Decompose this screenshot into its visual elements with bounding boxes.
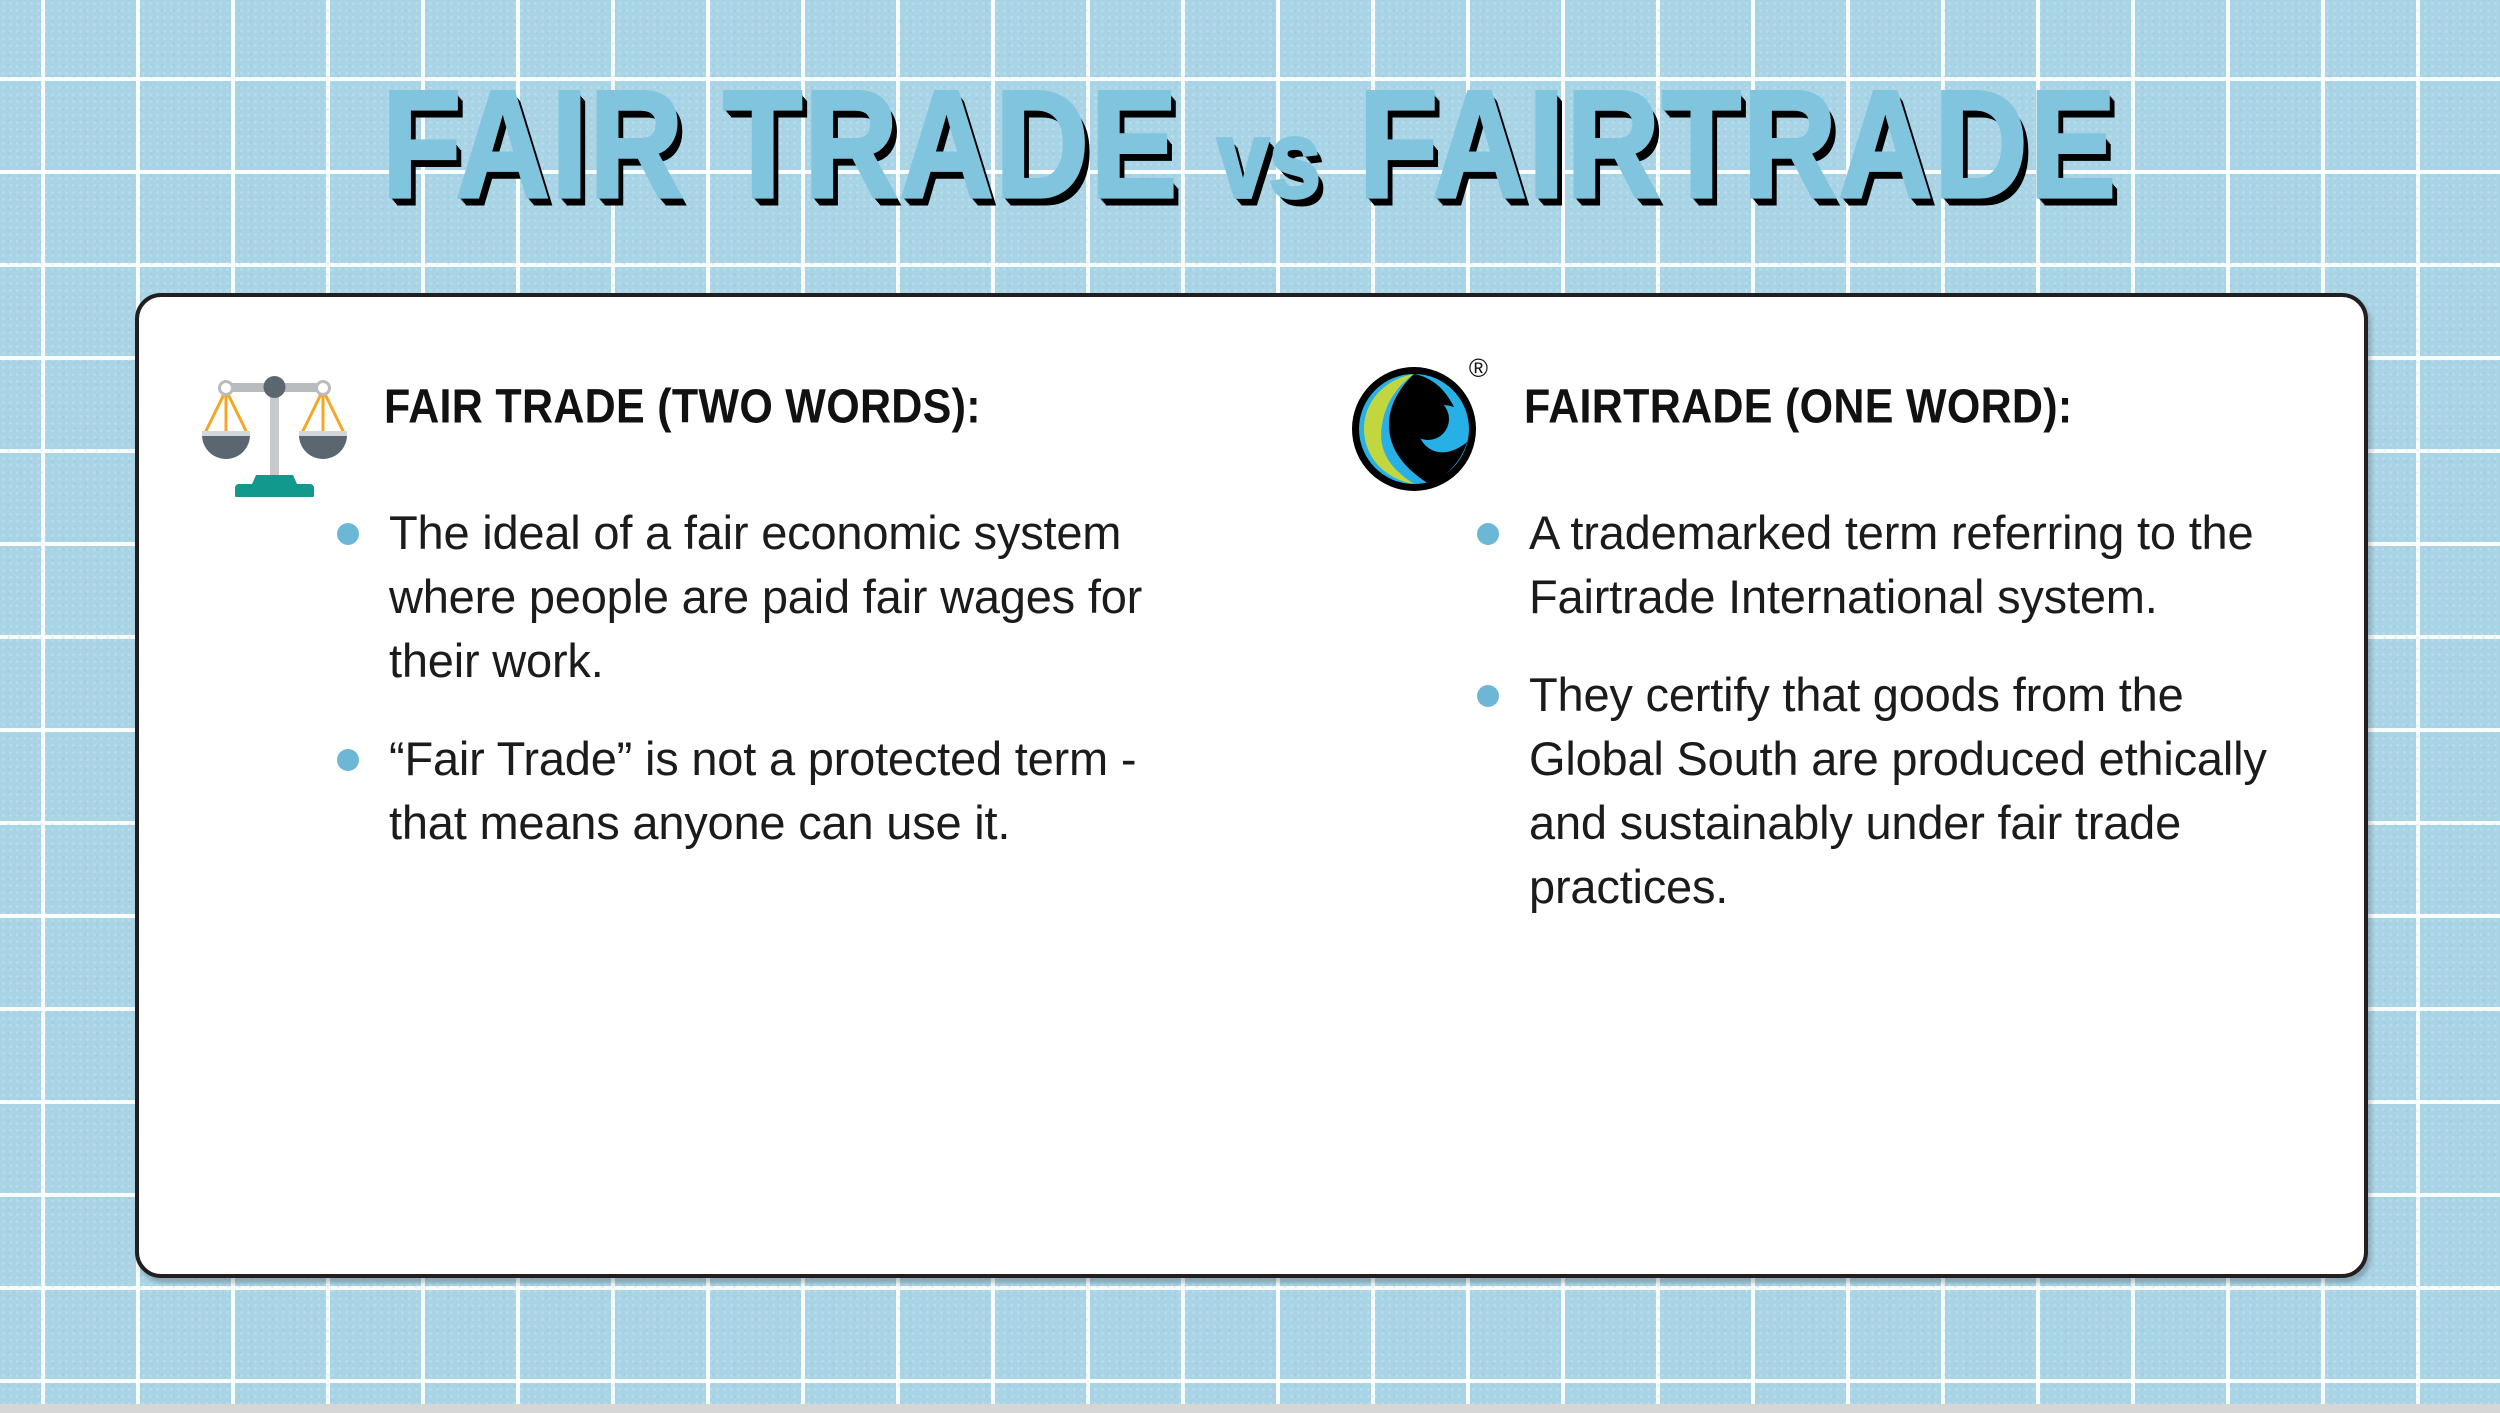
comparison-columns: FAIR TRADE (TWO WORDS): The ideal of a f…: [139, 297, 2364, 1274]
bullet-list-fairtrade: A trademarked term referring to the Fair…: [1334, 501, 2324, 952]
bullet-list-fair-trade: The ideal of a fair economic system wher…: [194, 501, 1184, 889]
fairtrade-international-logo-icon: ®: [1334, 351, 1494, 475]
page-title: FAIR TRADE vs FAIRTRADE: [0, 68, 2500, 221]
slide-canvas: FAIR TRADE vs FAIRTRADE: [0, 0, 2500, 1413]
bullet-dot-icon: [337, 749, 359, 771]
column-header-fair-trade: FAIR TRADE (TWO WORDS):: [194, 351, 1184, 491]
title-versus: vs: [1217, 97, 1321, 221]
list-item-text: The ideal of a fair economic system wher…: [389, 506, 1142, 687]
title-part-one: FAIR TRADE: [382, 59, 1179, 229]
list-item: A trademarked term referring to the Fair…: [1529, 501, 2324, 629]
column-heading-label: FAIR TRADE (TWO WORDS):: [384, 351, 981, 435]
bullet-dot-icon: [1477, 685, 1499, 707]
title-part-two: FAIRTRADE: [1359, 59, 2118, 229]
column-heading-label: FAIRTRADE (ONE WORD):: [1524, 351, 2073, 435]
registered-trademark-icon: ®: [1469, 355, 1488, 381]
bullet-dot-icon: [337, 523, 359, 545]
list-item-text: “Fair Trade” is not a protected term - t…: [389, 732, 1136, 849]
column-fair-trade: FAIR TRADE (TWO WORDS): The ideal of a f…: [194, 351, 1184, 1274]
comparison-card: FAIR TRADE (TWO WORDS): The ideal of a f…: [135, 293, 2368, 1278]
column-header-fairtrade: ® FAIRTRADE (ONE WORD):: [1334, 351, 2324, 491]
list-item-text: They certify that goods from the Global …: [1529, 668, 2267, 913]
bullet-dot-icon: [1477, 523, 1499, 545]
column-fairtrade: ® FAIRTRADE (ONE WORD): A trademarked te…: [1334, 351, 2324, 1274]
bottom-edge-strip: [0, 1404, 2500, 1413]
list-item: They certify that goods from the Global …: [1529, 663, 2324, 919]
balance-scale-icon: [194, 351, 354, 497]
list-item: The ideal of a fair economic system wher…: [389, 501, 1184, 693]
list-item-text: A trademarked term referring to the Fair…: [1529, 506, 2253, 623]
list-item: “Fair Trade” is not a protected term - t…: [389, 727, 1184, 855]
